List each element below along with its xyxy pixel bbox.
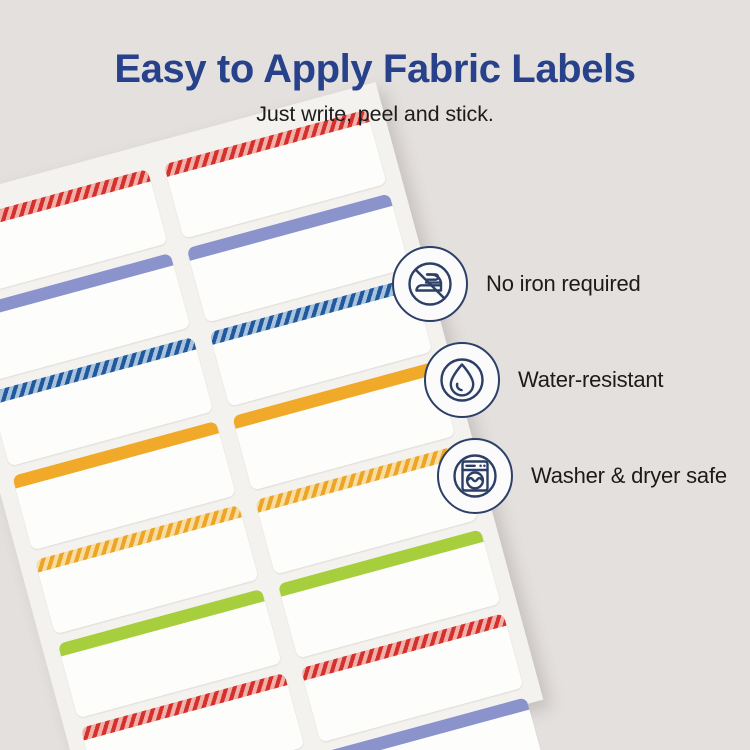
product-marketing-image: Easy to Apply Fabric Labels Just write, … bbox=[0, 0, 750, 750]
feature-label-washer-dryer-safe: Washer & dryer safe bbox=[531, 463, 727, 489]
feature-list: No iron required Water-resistant bbox=[392, 236, 742, 524]
page-title: Easy to Apply Fabric Labels bbox=[0, 48, 750, 90]
water-drop-icon bbox=[424, 342, 500, 418]
feature-item-no-iron: No iron required bbox=[392, 236, 742, 332]
no-iron-icon bbox=[392, 246, 468, 322]
washing-machine-icon bbox=[437, 438, 513, 514]
feature-item-washer-dryer-safe: Washer & dryer safe bbox=[437, 428, 742, 524]
feature-item-water-resistant: Water-resistant bbox=[424, 332, 742, 428]
header-block: Easy to Apply Fabric Labels Just write, … bbox=[0, 48, 750, 127]
feature-label-water-resistant: Water-resistant bbox=[518, 367, 663, 393]
feature-label-no-iron: No iron required bbox=[486, 271, 641, 297]
page-subtitle: Just write, peel and stick. bbox=[0, 102, 750, 127]
